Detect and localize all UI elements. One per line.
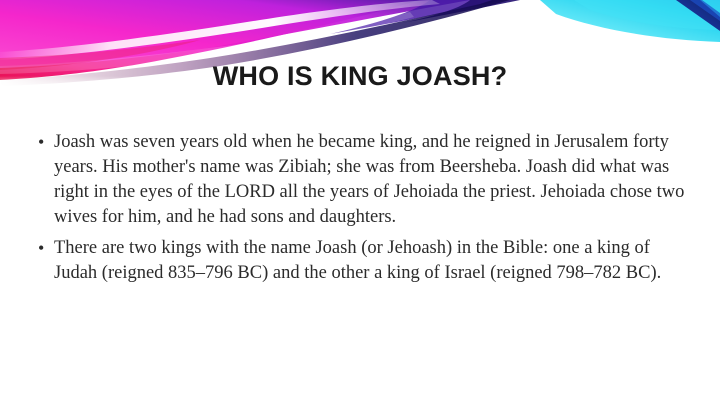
list-item-text: There are two kings with the name Joash …: [54, 236, 686, 286]
slide-body: • Joash was seven years old when he beca…: [38, 130, 686, 292]
bullet-dot-icon: •: [38, 130, 54, 155]
bullet-dot-icon: •: [38, 236, 54, 261]
list-item: • There are two kings with the name Joas…: [38, 236, 686, 286]
slide-canvas: WHO IS KING JOASH? • Joash was seven yea…: [0, 0, 720, 404]
list-item: • Joash was seven years old when he beca…: [38, 130, 686, 230]
slide-title: WHO IS KING JOASH?: [0, 62, 720, 92]
list-item-text: Joash was seven years old when he became…: [54, 130, 686, 230]
